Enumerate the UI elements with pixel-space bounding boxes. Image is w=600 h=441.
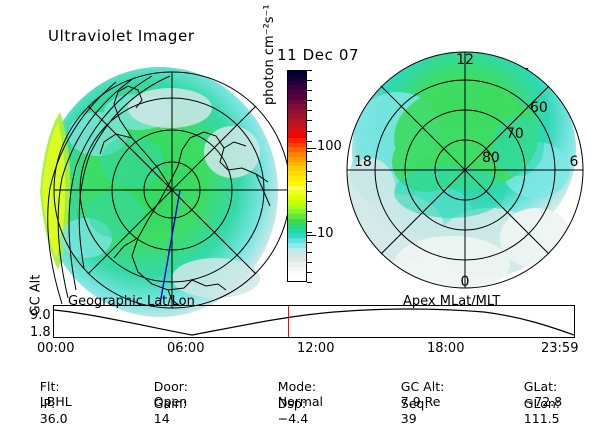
- glon-value: 111.5: [524, 411, 560, 426]
- mlt-label-0: 0: [461, 274, 470, 290]
- colorbar-tick: [307, 232, 312, 233]
- header-bar: Ultraviolet Imager 11 Dec 07 10:42:39 UT: [0, 8, 600, 32]
- colorbar-gradient: [287, 70, 307, 282]
- orbit-xtick-0600: 06:00: [167, 341, 204, 356]
- colorbar: [287, 70, 307, 282]
- orbit-xtick-0000: 00:00: [37, 341, 74, 356]
- ip-label: IP:: [40, 396, 55, 411]
- status-footer: Flt: LBHL Door: Open Mode: Normal GC Alt…: [0, 364, 600, 398]
- mlat-label-70: 70: [506, 126, 524, 142]
- orbit-ytick-low: 1.8: [30, 325, 51, 340]
- colorbar-tick-label: 100: [317, 139, 342, 154]
- dsp-label: Dsp:: [278, 396, 306, 411]
- gain-label: Gain:: [154, 396, 187, 411]
- apex-polar-plot: 12 6 0 18 60 70 80: [340, 42, 590, 292]
- geographic-image-panel: [20, 42, 270, 292]
- colorbar-tick: [307, 221, 312, 222]
- colorbar-tick: [307, 201, 312, 202]
- colorbar-tick: [307, 282, 312, 283]
- colorbar-tick: [307, 80, 312, 81]
- orbit-trace: [54, 306, 574, 337]
- status-row-1: Flt: LBHL Door: Open Mode: Normal GC Alt…: [0, 364, 600, 381]
- colorbar-major-tick: [307, 235, 316, 236]
- dsp-value: −4.4: [278, 411, 308, 426]
- colorbar-tick-label: 10: [317, 226, 334, 241]
- colorbar-tick: [307, 252, 312, 253]
- mlat-label-60: 60: [530, 100, 548, 116]
- colorbar-major-tick: [307, 148, 316, 149]
- glon-label: GLon:: [524, 396, 560, 411]
- ip-value: 36.0: [40, 411, 68, 426]
- colorbar-tick: [307, 262, 312, 263]
- colorbar-tick: [307, 191, 312, 192]
- status-row-2: IP: 36.0 Gain: 14 Dsp: −4.4 Seq: 39 GLon…: [0, 381, 600, 398]
- current-time-marker: [288, 306, 289, 337]
- colorbar-tick: [307, 161, 312, 162]
- colorbar-tick: [307, 181, 312, 182]
- mlt-label-18: 18: [354, 154, 372, 170]
- colorbar-tick: [307, 100, 312, 101]
- colorbar-tick: [307, 272, 312, 273]
- mlat-label-80: 80: [482, 150, 500, 166]
- colorbar-ticks: [307, 70, 315, 282]
- orbit-xtick-1200: 12:00: [297, 341, 334, 356]
- seq-value: 39: [401, 411, 417, 426]
- mlt-label-6: 6: [570, 154, 579, 170]
- geographic-plot: [20, 42, 270, 292]
- colorbar-tick: [307, 242, 312, 243]
- orbit-xtick-1800: 18:00: [427, 341, 464, 356]
- colorbar-tick: [307, 211, 312, 212]
- orbit-ytick-high: 9.0: [30, 308, 51, 323]
- colorbar-tick: [307, 131, 312, 132]
- uvi-display: Ultraviolet Imager 11 Dec 07 10:42:39 UT: [0, 0, 600, 400]
- colorbar-tick: [307, 90, 312, 91]
- colorbar-tick: [307, 110, 312, 111]
- mlt-label-12: 12: [456, 52, 474, 68]
- colorbar-tick: [307, 70, 312, 71]
- apex-image-panel: 12 6 0 18 60 70 80: [340, 42, 590, 292]
- gain-value: 14: [154, 411, 170, 426]
- colorbar-swatch: [288, 276, 306, 281]
- orbit-xtick-2359: 23:59: [541, 341, 578, 356]
- colorbar-axis-label: photon cm⁻²s⁻¹: [262, 0, 277, 105]
- seq-label: Seq:: [401, 396, 429, 411]
- polar-grid: [347, 52, 583, 288]
- orbit-altitude-plot: [53, 305, 575, 338]
- colorbar-tick: [307, 120, 312, 121]
- auroral-emission-region: [40, 67, 278, 317]
- colorbar-tick: [307, 171, 312, 172]
- colorbar-tick: [307, 141, 312, 142]
- colorbar-tick: [307, 151, 312, 152]
